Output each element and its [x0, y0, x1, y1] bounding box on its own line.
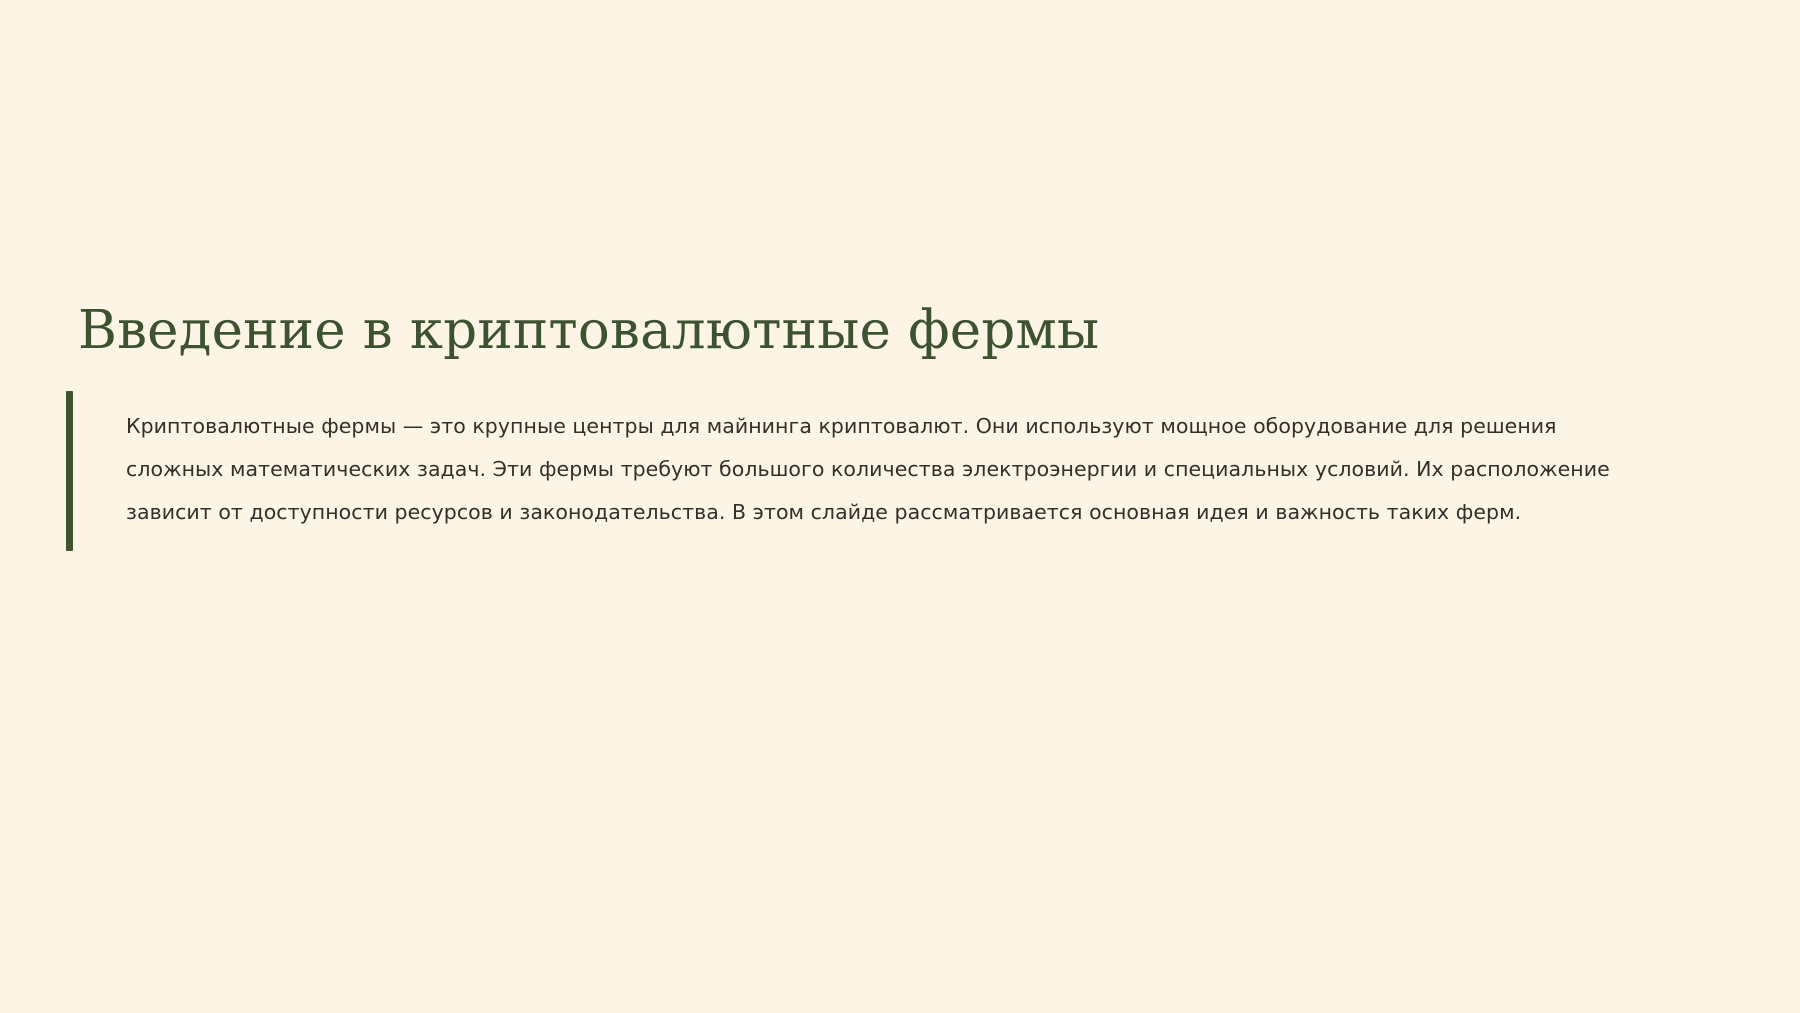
presentation-slide: Введение в криптовалютные фермы Криптова…: [0, 0, 1800, 1013]
body-block: Криптовалютные фермы — это крупные центр…: [66, 385, 1718, 555]
slide-body-text: Криптовалютные фермы — это крупные центр…: [73, 405, 1616, 534]
slide-content: Введение в криптовалютные фермы Криптова…: [78, 300, 1718, 555]
slide-title: Введение в криптовалютные фермы: [78, 300, 1718, 363]
accent-bar: [66, 391, 73, 551]
